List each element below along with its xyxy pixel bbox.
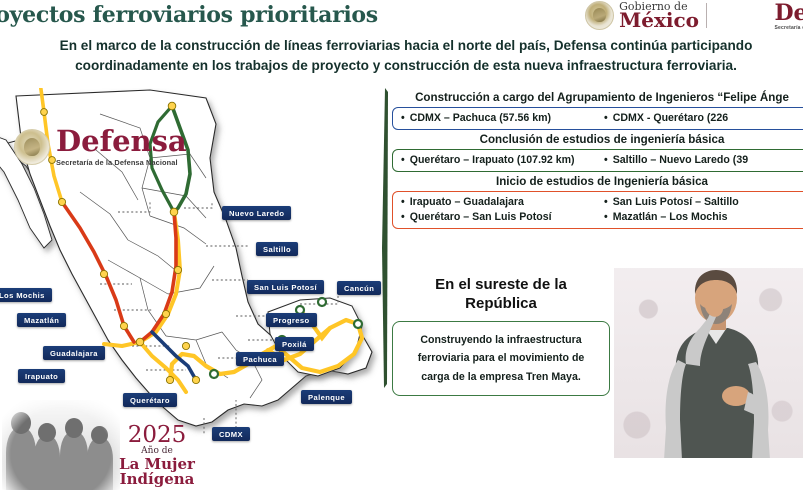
vertical-divider [382,88,390,388]
defensa-logo-sub: Secretaría de la Defensa Nacional [56,158,187,167]
panel-top-mask [614,258,803,268]
projects-info-panel: Construcción a cargo del Agrupamiento de… [392,88,803,229]
defensa-header-title: Defe [774,2,803,24]
defensa-header-sub: Secretaría de la Defe [774,25,803,31]
map-label-palenque: Palenque [301,390,352,404]
sureste-box-line3: carga de la empresa Tren Maya. [401,368,601,387]
map-label-cancun: Cancún [337,281,381,295]
list-item: Irapuato – Guadalajara [401,195,604,209]
sign-language-interpreter-panel[interactable] [612,258,803,490]
sureste-block: En el sureste de la República Construyen… [392,276,610,396]
branding-2025: 2025 Año de La Mujer Indígena [0,398,196,490]
list-item: Saltillo – Nuevo Laredo (39 [604,153,803,167]
section-heading-construccion: Construcción a cargo del Agrupamiento de… [392,88,803,107]
map-label-poxila: Poxilá [275,337,314,351]
map-label-cdmx: CDMX [212,427,250,441]
list-item: CDMX - Querétaro (226 [604,111,803,125]
brand-year: 2025 [118,425,196,446]
gobierno-de-mexico-logo: Gobierno de México [585,1,699,30]
list-item: Mazatlán – Los Mochis [604,210,803,224]
map-label-progreso: Progreso [266,313,317,327]
slide-subtitle: En el marco de la construcción de líneas… [0,36,803,75]
map-label-nuevo-laredo: Nuevo Laredo [222,206,291,220]
section-box-inicio: Irapuato – Guadalajara Querétaro – San L… [392,191,803,228]
sureste-box-line1: Construyendo la infraestructura [401,331,601,350]
defensa-seal-icon [14,129,50,165]
mexican-eagle-seal-icon [585,1,614,30]
list-item: San Luis Potosí – Saltillo [604,195,803,209]
interpreter-figure [648,270,778,460]
sureste-title-line2: República [392,295,610,314]
map-label-pachuca: Pachuca [236,352,284,366]
map-label-san-luis-potosi: San Luis Potosí [247,280,324,294]
section-heading-inicio: Inicio de estudios de Ingeniería básica [392,172,803,191]
section-box-conclusion: Querétaro – Irapuato (107.92 km) Saltill… [392,149,803,172]
slide-header: royectos ferroviarios prioritarios Gobie… [0,0,803,33]
map-label-mazatlan: Mazatlán [17,313,66,327]
brand-line3: Indígena [118,472,196,488]
mexico-label: México [619,10,699,30]
map-label-queretaro: Querétaro [123,393,177,407]
sureste-box-line2: ferroviaria para el movimiento de [401,349,601,368]
sureste-title-line1: En el sureste de la [392,276,610,295]
section-box-construccion: CDMX – Pachuca (57.56 km) CDMX - Queréta… [392,107,803,130]
list-item: Querétaro – San Luis Potosí [401,210,604,224]
list-item: CDMX – Pachuca (57.56 km) [401,111,604,125]
defensa-logo: Defensa Secretaría de la Defensa Naciona… [14,128,187,167]
panel-bottom-mask [614,458,803,490]
map-label-guadalajara: Guadalajara [43,346,105,360]
page-title: royectos ferroviarios prioritarios [0,2,504,28]
sureste-box: Construyendo la infraestructura ferrovia… [392,321,610,397]
header-divider [706,3,707,28]
section-heading-conclusion: Conclusión de estudios de ingeniería bás… [392,130,803,149]
slide-root: royectos ferroviarios prioritarios Gobie… [0,0,803,490]
defensa-logo-name: Defensa [56,128,187,156]
defensa-header-logo: Defe Secretaría de la Defe [774,2,803,31]
list-item: Querétaro – Irapuato (107.92 km) [401,153,604,167]
map-label-saltillo: Saltillo [256,242,298,256]
map-label-los-mochis: Los Mochis [0,288,52,302]
map-label-irapuato: Irapuato [18,369,65,383]
indigenous-women-illustration [2,400,120,490]
